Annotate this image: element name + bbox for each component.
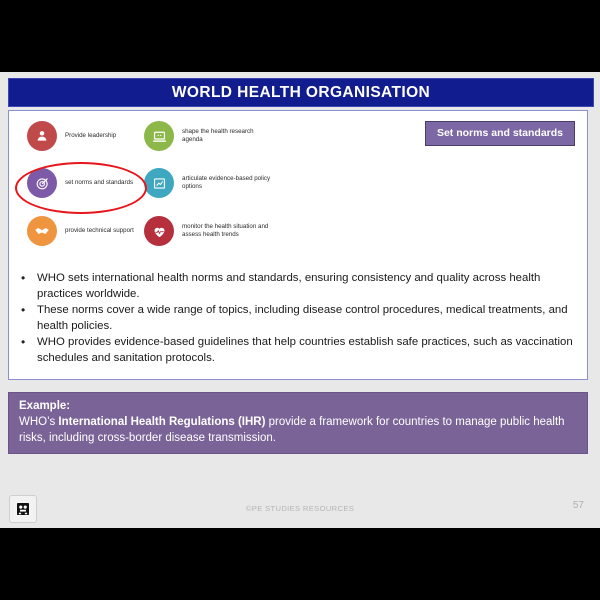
who-functions-graphic: Provide leadership shape the health rese… — [9, 111, 299, 261]
example-text-before: WHO’s — [19, 416, 58, 428]
function-label: shape the health research agenda — [182, 128, 272, 145]
bullet-text: WHO provides evidence-based guidelines t… — [37, 335, 577, 366]
function-item-provide-technical-support: provide technical support — [27, 216, 134, 246]
page-title: WORLD HEALTH ORGANISATION — [172, 84, 430, 102]
target-icon — [27, 168, 57, 198]
example-text-bold: International Health Regulations (IHR) — [58, 416, 265, 428]
handshake-icon — [27, 216, 57, 246]
bullet-list: • WHO sets international health norms an… — [21, 271, 577, 367]
function-label: monitor the health situation and assess … — [182, 223, 272, 240]
bullet-marker: • — [21, 303, 28, 319]
status-badge-set-norms[interactable]: Set norms and standards — [425, 121, 575, 146]
person-icon — [27, 121, 57, 151]
function-label: provide technical support — [65, 227, 134, 235]
function-item-set-norms-and-standards: set norms and standards — [27, 168, 133, 198]
list-item: • These norms cover a wide range of topi… — [21, 303, 577, 334]
laptop-icon — [144, 121, 174, 151]
function-item-provide-leadership: Provide leadership — [27, 121, 116, 151]
bullet-marker: • — [21, 335, 28, 351]
list-item: • WHO sets international health norms an… — [21, 271, 577, 302]
example-callout-box: Example: WHO’s International Health Regu… — [8, 392, 588, 454]
function-item-articulate-policy-options: articulate evidence-based policy options — [144, 168, 272, 198]
function-label: set norms and standards — [65, 179, 133, 187]
copyright-text: ©PE STUDIES RESOURCES — [0, 504, 600, 513]
bullet-text: These norms cover a wide range of topics… — [37, 303, 577, 334]
function-item-shape-research-agenda: shape the health research agenda — [144, 121, 272, 151]
example-body: WHO’s International Health Regulations (… — [19, 414, 577, 446]
bullet-text: WHO sets international health norms and … — [37, 271, 577, 302]
example-label: Example: — [19, 399, 577, 414]
function-label: Provide leadership — [65, 132, 116, 140]
line-chart-icon — [144, 168, 174, 198]
slide-title-bar: WORLD HEALTH ORGANISATION — [8, 78, 594, 107]
content-panel: Provide leadership shape the health rese… — [8, 110, 588, 380]
function-item-monitor-health-situation: monitor the health situation and assess … — [144, 216, 272, 246]
heart-pulse-icon — [144, 216, 174, 246]
list-item: • WHO provides evidence-based guidelines… — [21, 335, 577, 366]
function-label: articulate evidence-based policy options — [182, 175, 272, 192]
slide: WORLD HEALTH ORGANISATION Provide leader… — [0, 72, 600, 528]
bullet-marker: • — [21, 271, 28, 287]
screenshot-stage: WORLD HEALTH ORGANISATION Provide leader… — [0, 0, 600, 600]
page-number: 57 — [573, 500, 584, 511]
